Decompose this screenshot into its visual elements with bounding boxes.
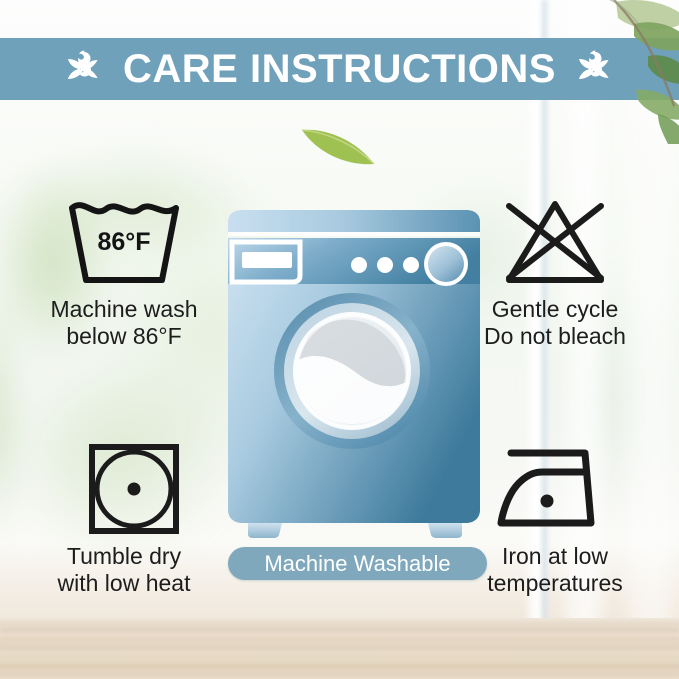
care-label-iron: Iron at low temperatures (487, 543, 623, 597)
machine-indicator-dot-1 (351, 257, 367, 273)
fleur-de-lis-icon-left (59, 47, 109, 91)
wash-temperature-text: 86°F (97, 228, 150, 256)
washing-machine-illustration (222, 208, 486, 538)
page-title: CARE INSTRUCTIONS (123, 49, 556, 89)
header-banner: CARE INSTRUCTIONS (0, 38, 679, 100)
care-label-machine-wash: Machine wash below 86°F (50, 296, 197, 350)
tumble-dry-square-icon (64, 443, 184, 535)
machine-display-screen (242, 252, 292, 268)
machine-washable-badge: Machine Washable (228, 547, 487, 580)
care-item-tumble-dry: Tumble dry with low heat (24, 443, 224, 597)
machine-foot-left (248, 523, 282, 538)
wash-tub-icon: 86°F (64, 196, 184, 288)
iron-icon (495, 443, 615, 535)
care-label-do-not-bleach: Gentle cycle Do not bleach (484, 296, 626, 350)
machine-indicator-dot-2 (377, 257, 393, 273)
machine-top-lid (228, 210, 480, 232)
fleur-de-lis-icon-right (570, 47, 620, 91)
machine-control-knob (428, 246, 464, 282)
triangle-crossed-out-icon (495, 196, 615, 288)
care-instructions-infographic: CARE INSTRUCTIONS (0, 0, 679, 679)
badge-label: Machine Washable (264, 553, 450, 575)
care-label-tumble-dry: Tumble dry with low heat (58, 543, 191, 597)
machine-indicator-dot-3 (403, 257, 419, 273)
machine-foot-right (428, 523, 462, 538)
care-item-machine-wash: 86°F Machine wash below 86°F (24, 196, 224, 350)
table-wood-grain (0, 632, 679, 679)
